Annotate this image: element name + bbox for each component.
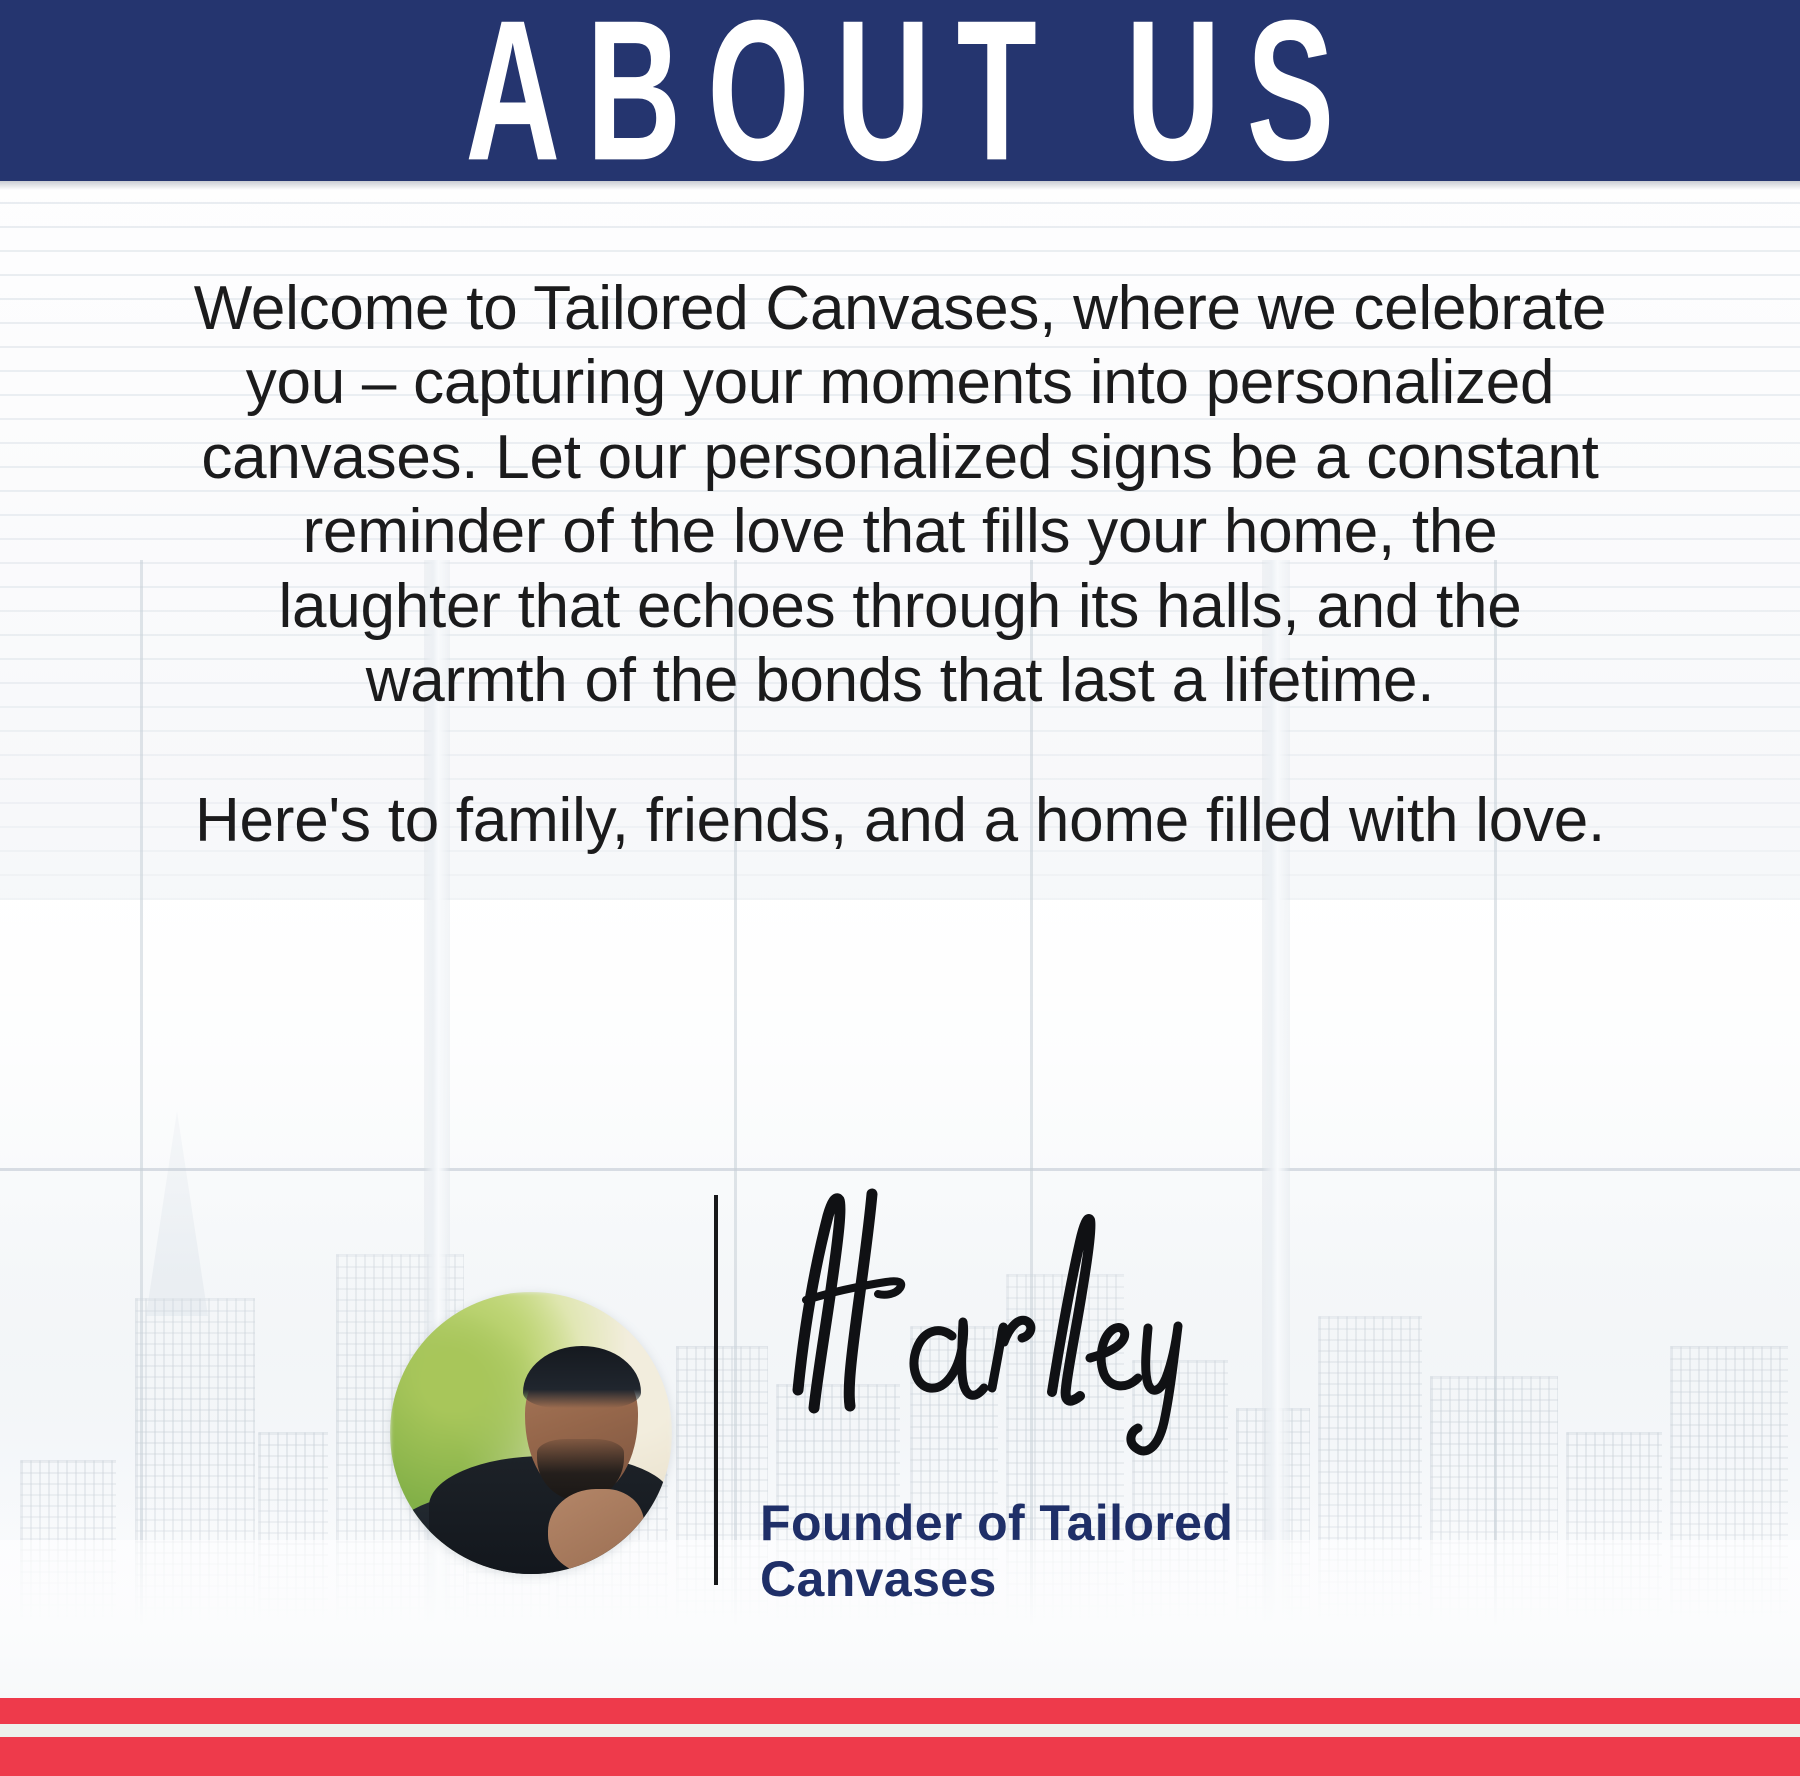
header-banner: ABOUT US xyxy=(0,0,1800,181)
about-us-poster: ABOUT US Welcome to Tailored Canvases, w… xyxy=(0,0,1800,1776)
founder-title-line-1: Founder of Tailored xyxy=(760,1495,1320,1551)
accent-stripe-bottom xyxy=(0,1737,1800,1776)
founder-title: Founder of Tailored Canvases xyxy=(760,1495,1320,1607)
paragraph-spacer xyxy=(190,718,1610,784)
founder-photo xyxy=(390,1292,672,1574)
about-copy: Welcome to Tailored Canvases, where we c… xyxy=(190,272,1610,859)
founder-signature xyxy=(740,1160,1260,1460)
window-mullion xyxy=(140,560,143,1636)
page-title: ABOUT US xyxy=(439,0,1360,186)
signature-divider xyxy=(714,1195,718,1585)
accent-stripe-gap xyxy=(0,1724,1800,1737)
avatar xyxy=(390,1292,672,1574)
about-paragraph-2: Here's to family, friends, and a home fi… xyxy=(190,784,1610,858)
accent-stripe-top xyxy=(0,1698,1800,1724)
founder-title-line-2: Canvases xyxy=(760,1551,1320,1607)
about-paragraph-1: Welcome to Tailored Canvases, where we c… xyxy=(190,272,1610,718)
